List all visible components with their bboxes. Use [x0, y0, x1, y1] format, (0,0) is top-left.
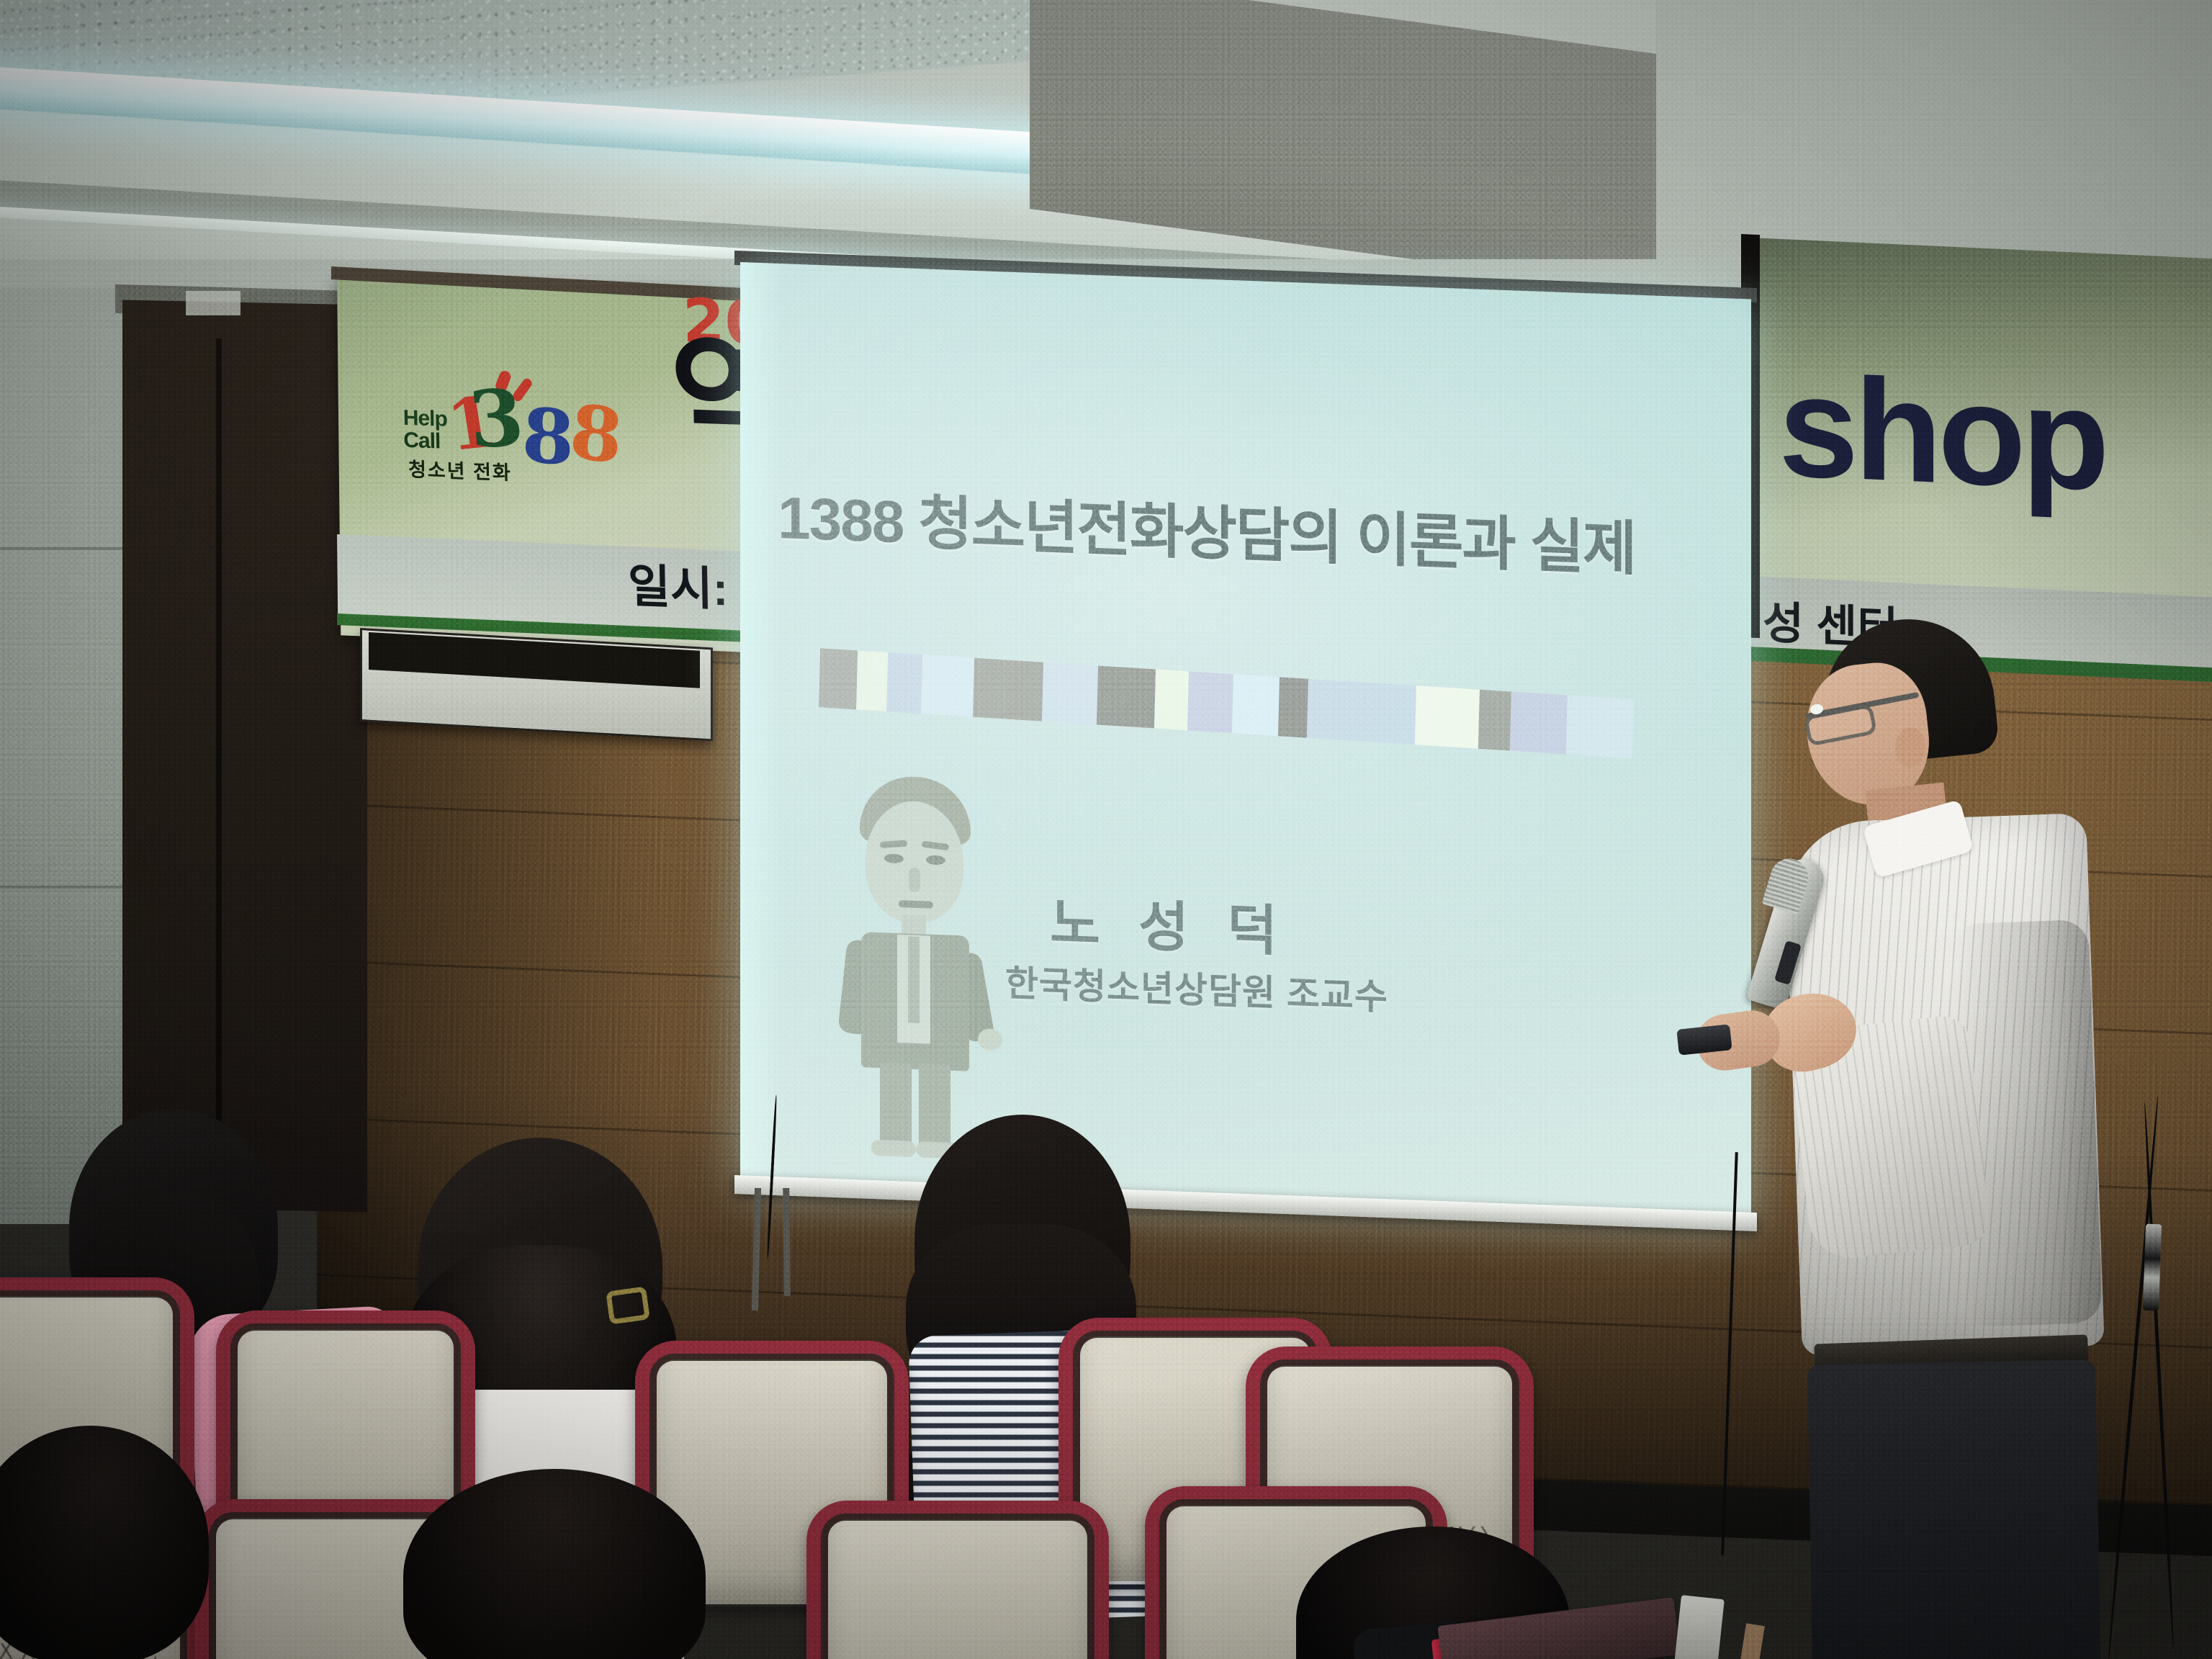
slide-color-block — [1097, 666, 1156, 729]
auditorium-seat[interactable] — [828, 1519, 1087, 1659]
slide-color-block — [1042, 662, 1098, 725]
avatar-nose — [909, 868, 920, 893]
presenter-ear — [1895, 727, 1925, 768]
cable-connector — [2143, 1224, 2162, 1311]
slide-color-block — [1187, 671, 1233, 733]
projection-screen-edge-glow — [740, 262, 783, 1192]
helpcall-1388-logo: Help Call 1 3 8 8 청소년 전화 — [402, 363, 663, 502]
logo-call-text: Call — [403, 428, 441, 453]
slide-color-block — [1278, 677, 1308, 737]
slide-presenter-affiliation: 한국청소년상담원 조교수 — [1005, 954, 1388, 1020]
logo-subtitle: 청소년 전화 — [408, 454, 512, 485]
slide-color-block — [1566, 695, 1634, 758]
logo-digit-8-second: 8 — [567, 393, 626, 475]
air-conditioner-brand-mark — [497, 675, 502, 691]
slide-presenter-name: 노 성 덕 — [1050, 878, 1289, 966]
presentation-clicker[interactable] — [1676, 1024, 1732, 1056]
presenter-trousers — [1807, 1360, 2104, 1659]
door-sign-plate — [186, 291, 240, 315]
slide-title: 1388 청소년전화상담의 이론과 실제 — [778, 469, 1721, 590]
right-banner-title-fragment: shop — [1779, 367, 2105, 500]
slide-color-block — [1415, 685, 1480, 748]
avatar-hand-right — [978, 1028, 1002, 1051]
table-white-card[interactable] — [1674, 1595, 1725, 1659]
slide-decorative-color-blocks — [819, 648, 1691, 762]
slide-color-block — [856, 651, 888, 712]
slide-color-block — [973, 658, 1043, 721]
slide-color-block — [1232, 674, 1280, 736]
avatar-leg-right — [919, 1064, 950, 1150]
seat-trim — [821, 1514, 1094, 1659]
slide-color-block — [1154, 670, 1189, 731]
avatar-leg-left — [880, 1062, 912, 1148]
logo-helpcall-text: Help Call — [403, 408, 448, 453]
avatar-mouth — [899, 900, 933, 909]
slide-color-block — [1307, 679, 1416, 745]
slide-color-block — [921, 655, 974, 716]
avatar-necktie — [908, 937, 920, 1024]
door-seam — [216, 338, 222, 1195]
projected-slide: 1388 청소년전화상담의 이론과 실제 노 성 덕 한국청소년상담원 조교수 — [740, 262, 1751, 1228]
projection-screen-leg — [783, 1188, 791, 1296]
slide-color-block — [1510, 692, 1568, 755]
slide-caricature-avatar — [821, 769, 1008, 1165]
lecture-hall-scene: Help Call 1 3 8 8 청소년 전화 20 역 일시: 2 shop… — [0, 0, 2212, 1659]
logo-digit-3: 3 — [466, 379, 526, 459]
slide-color-block — [819, 648, 858, 709]
logo-help-text: Help — [403, 406, 448, 431]
slide-color-block — [886, 652, 922, 714]
slide-color-block — [1478, 690, 1511, 751]
avatar-shoe-left — [871, 1140, 916, 1157]
entrance-door[interactable] — [122, 300, 367, 1212]
presenter-figure — [1714, 619, 2117, 1659]
attendee-eyeglasses-icon — [606, 1286, 650, 1324]
